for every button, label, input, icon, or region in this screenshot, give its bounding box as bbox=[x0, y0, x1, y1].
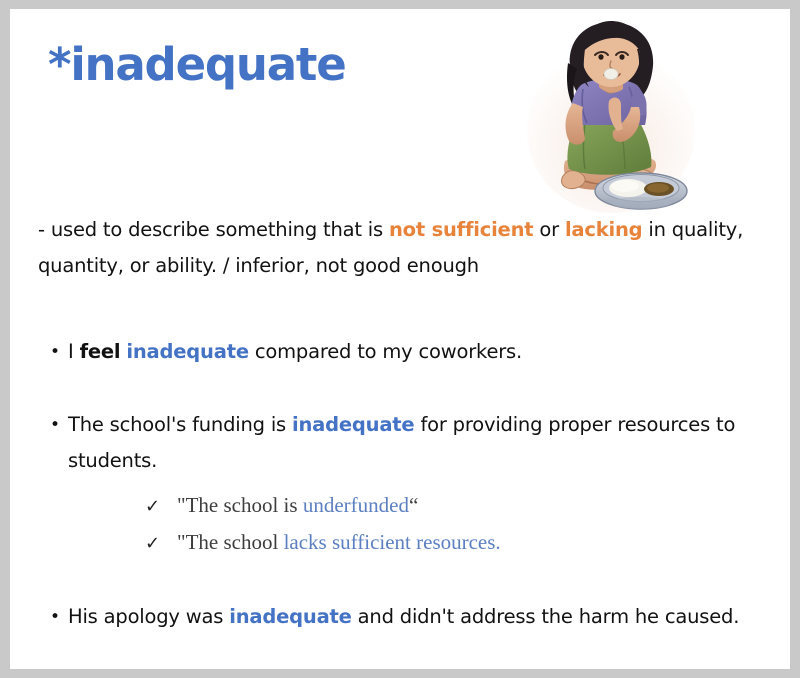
bullet-text: I feel inadequate compared to my coworke… bbox=[68, 334, 783, 370]
sub-quote-pre: "The school bbox=[177, 530, 284, 554]
list-item: • His apology was inadequate and didn't … bbox=[38, 599, 783, 635]
bullet-marker: • bbox=[38, 599, 68, 635]
definition-mid: or bbox=[533, 218, 565, 241]
list-item: • I feel inadequate compared to my cowor… bbox=[38, 334, 783, 370]
sub-quote-keyword: underfunded bbox=[303, 493, 409, 517]
definition-lead: - used to describe something that is bbox=[38, 218, 389, 241]
bullet-bold: feel bbox=[80, 340, 121, 363]
list-item: • The school's funding is inadequate for… bbox=[38, 407, 783, 479]
bullet-keyword: inadequate bbox=[126, 340, 248, 363]
definition-highlight-lacking: lacking bbox=[565, 218, 643, 241]
sub-quote-item: ✓ "The school lacks sufficient resources… bbox=[145, 527, 501, 559]
sub-quote-post: “ bbox=[409, 493, 418, 517]
bullet-text: The school's funding is inadequate for p… bbox=[68, 407, 783, 479]
sub-quote-keyword: lacks sufficient resources. bbox=[284, 530, 501, 554]
sub-quote-pre: "The school is bbox=[177, 493, 303, 517]
check-icon: ✓ bbox=[145, 529, 177, 559]
page-title: *inadequate bbox=[48, 41, 346, 88]
bullet-pre: His apology was bbox=[68, 605, 229, 628]
bullet-text: His apology was inadequate and didn't ad… bbox=[68, 599, 783, 635]
sub-quote-item: ✓ "The school is underfunded“ bbox=[145, 490, 418, 522]
bullet-pre: I bbox=[68, 340, 80, 363]
check-icon: ✓ bbox=[145, 492, 177, 522]
bullet-keyword: inadequate bbox=[292, 413, 414, 436]
definition-text: - used to describe something that is not… bbox=[38, 212, 778, 284]
child-eating-rice-illustration bbox=[525, 11, 697, 214]
definition-highlight-not-sufficient: not sufficient bbox=[389, 218, 533, 241]
sub-quote-text: "The school lacks sufficient resources. bbox=[177, 527, 501, 557]
slide-canvas: *inadequate bbox=[10, 9, 790, 669]
bullet-marker: • bbox=[38, 334, 68, 370]
bullet-post: compared to my coworkers. bbox=[249, 340, 522, 363]
sub-quote-text: "The school is underfunded“ bbox=[177, 490, 418, 520]
bullet-keyword: inadequate bbox=[229, 605, 351, 628]
bullet-marker: • bbox=[38, 407, 68, 443]
bullet-pre: The school's funding is bbox=[68, 413, 292, 436]
bullet-post: and didn't address the harm he caused. bbox=[352, 605, 740, 628]
